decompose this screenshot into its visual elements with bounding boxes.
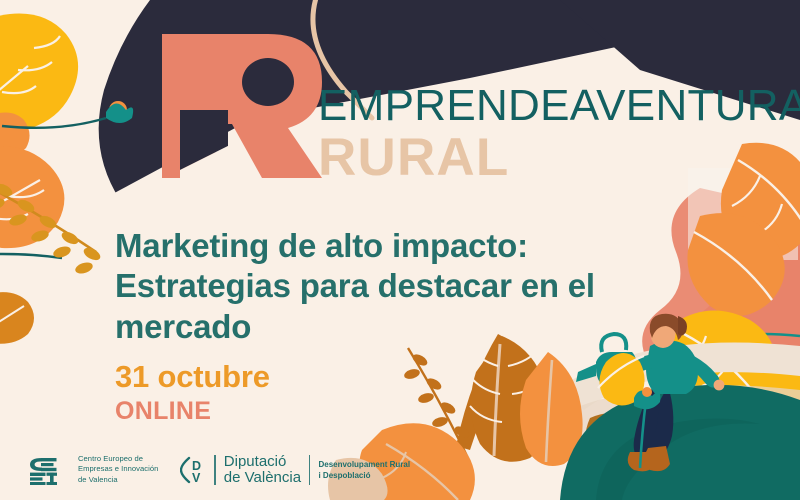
ceei-tagline-line-3: de Valencia	[78, 475, 158, 486]
date-block: 31 octubre ONLINE	[115, 360, 270, 425]
logo-divider-2	[309, 455, 310, 485]
ceei-tagline-line-2: Empresas e Innovación	[78, 464, 158, 475]
ceei-logo: Centro Europeo de Empresas e Innovación …	[26, 454, 158, 486]
event-promo-poster: EMPRENDEAVENTURA RURAL Marketing de alto…	[0, 0, 800, 500]
title-block: Marketing de alto impacto: Estrategias p…	[115, 226, 675, 347]
brand-wordmark: EMPRENDEAVENTURA RURAL	[318, 84, 800, 184]
footer-logos: Centro Europeo de Empresas e Innovación …	[26, 454, 410, 486]
diputacio-name: Diputació de València	[224, 454, 301, 486]
ceei-logo-icon	[26, 455, 70, 485]
diputacio-sub-line-2: i Despoblació	[318, 470, 410, 481]
dv-logo-icon: D V	[180, 455, 206, 485]
svg-text:V: V	[192, 471, 201, 485]
diputacio-sub-line-1: Desenvolupament Rural	[318, 459, 410, 470]
event-modality: ONLINE	[115, 397, 270, 426]
logo-divider-1	[214, 455, 215, 485]
diputacio-name-line-2: de València	[224, 470, 301, 486]
ceei-tagline: Centro Europeo de Empresas e Innovación …	[78, 454, 158, 486]
event-title: Marketing de alto impacto: Estrategias p…	[115, 226, 675, 347]
diputacio-department: Desenvolupament Rural i Despoblació	[318, 459, 410, 481]
event-date: 31 octubre	[115, 360, 270, 395]
diputacio-logo: D V Diputació de València Desenvolupamen…	[180, 454, 410, 486]
brand-line-primary: EMPRENDEAVENTURA	[318, 84, 800, 128]
ceei-tagline-line-1: Centro Europeo de	[78, 454, 158, 465]
diputacio-name-line-1: Diputació	[224, 454, 301, 470]
brand-line-secondary: RURAL	[318, 131, 800, 184]
